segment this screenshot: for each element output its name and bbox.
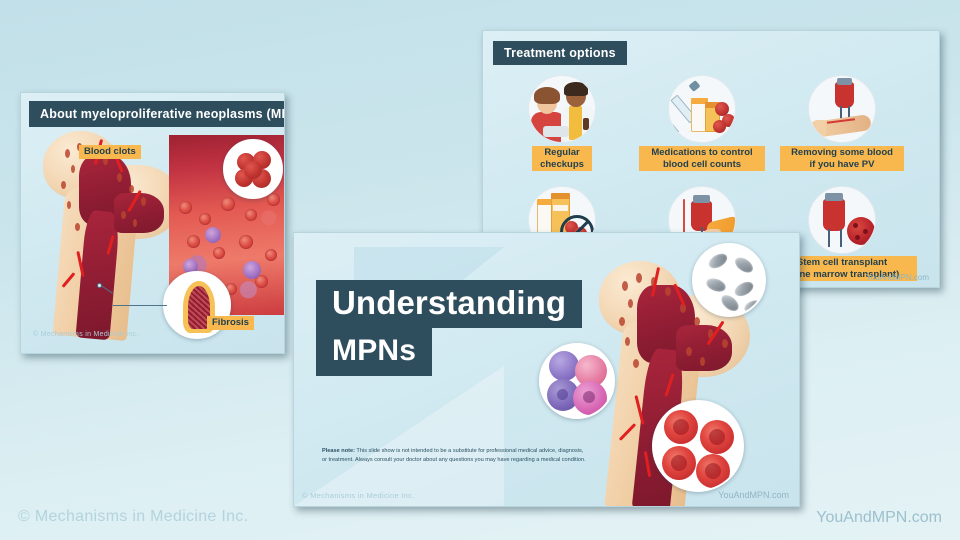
disclaimer-label: Please note:	[322, 448, 355, 454]
slide-title-footer-copyright: © Mechanisms in Medicine Inc.	[302, 491, 415, 500]
page-title-line1: Understanding	[316, 280, 582, 328]
slide-about-content: Blood clots Fibrosis About myeloprolifer…	[21, 93, 284, 353]
disclaimer-body: This slide show is not intended to be a …	[322, 448, 586, 463]
blood-clot-icon	[223, 139, 283, 199]
treatment-label-phlebotomy: Removing some blood if you have PV	[780, 146, 904, 171]
slide-title-footer-site: YouAndMPN.com	[718, 490, 789, 500]
disclaimer-note: Please note: This slide show is not inte…	[322, 447, 586, 464]
slide-about-title: About myeloproliferative neoplasms (MPNs…	[29, 101, 284, 127]
slide-treatment-title: Treatment options	[493, 41, 627, 65]
page-watermark-copyright: © Mechanisms in Medicine Inc.	[18, 508, 248, 526]
slide-understanding-mpns[interactable]: Understanding MPNs Please note: This sli…	[293, 232, 800, 507]
stem-cell-transplant-icon	[808, 186, 876, 254]
doctor-patient-checkup-icon	[528, 75, 596, 143]
platelets-circle-icon	[692, 243, 766, 317]
white-blood-cells-circle-icon	[539, 343, 615, 419]
treatment-label-regular-checkups: Regular checkups	[532, 146, 592, 171]
slide-treatment-footer-site: YouAndMPN.com	[866, 273, 929, 282]
slide-title-content: Understanding MPNs Please note: This sli…	[294, 233, 799, 506]
page-watermark-site: YouAndMPN.com	[816, 509, 942, 527]
callout-label-fibrosis: Fibrosis	[207, 316, 254, 330]
callout-leader-line	[113, 305, 167, 306]
slide-about-footer-copyright: © Mechanisms in Medicine Inc.	[33, 331, 139, 338]
slide-about-mpns[interactable]: Blood clots Fibrosis About myeloprolifer…	[20, 92, 285, 354]
decorative-triangle	[294, 366, 504, 506]
red-blood-cells-circle-icon	[652, 400, 744, 492]
callout-label-blood-clots: Blood clots	[79, 145, 141, 159]
treatment-label-medications: Medications to control blood cell counts	[639, 146, 765, 171]
phlebotomy-arm-blood-bag-icon	[808, 75, 876, 143]
page-title-line2: MPNs	[316, 328, 432, 376]
syringe-and-pills-icon	[668, 75, 736, 143]
